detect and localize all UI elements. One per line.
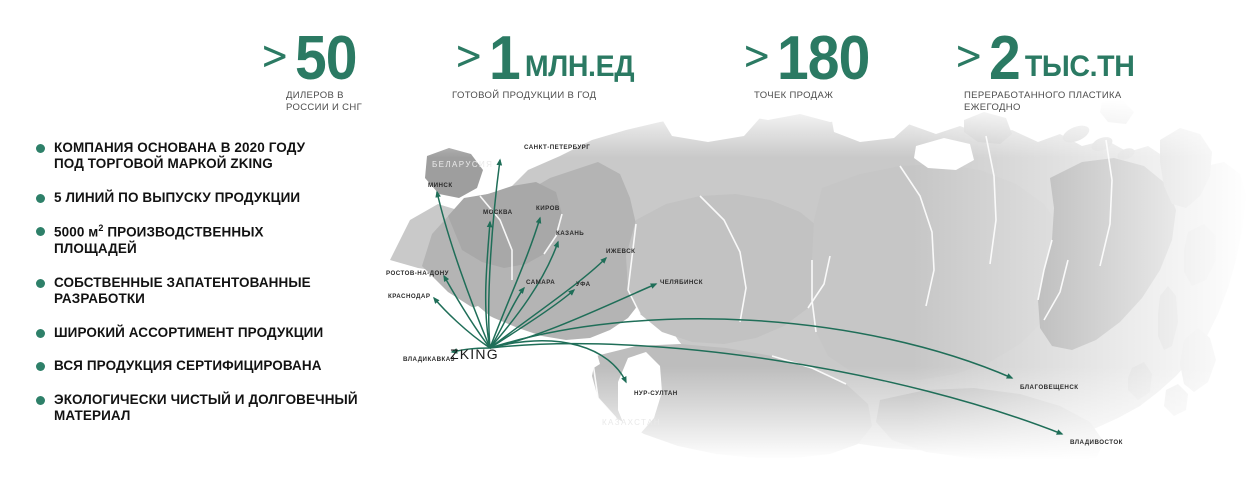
stat-units-unit: МЛН.ЕД <box>525 52 634 82</box>
city-label: САНКТ-ПЕТЕРБУРГ <box>524 144 590 151</box>
stat-dealers-number: 50 <box>295 32 357 85</box>
feature-item: ШИРОКИЙ АССОРТИМЕНТ ПРОДУКЦИИ <box>34 325 384 341</box>
city-label: УФА <box>576 281 591 288</box>
city-label: РОСТОВ-НА-ДОНУ <box>386 270 449 277</box>
feature-item-label: ЭКОЛОГИЧЕСКИ ЧИСТЫЙ И ДОЛГОВЕЧНЫЙ МАТЕРИ… <box>54 392 384 425</box>
feature-item-label: КОМПАНИЯ ОСНОВАНА В 2020 ГОДУ ПОД ТОРГОВ… <box>54 140 384 173</box>
stat-plastic-caption: ПЕРЕРАБОТАННОГО ПЛАСТИКА ЕЖЕГОДНО <box>964 90 1137 114</box>
superscript: 2 <box>98 223 103 233</box>
feature-item-label: 5000 м2 ПРОИЗВОДСТВЕННЫХ ПЛОЩАДЕЙ <box>54 223 384 257</box>
bullet-dot-icon <box>36 362 45 371</box>
stat-units: > 1 МЛН.ЕД ГОТОВОЙ ПРОДУКЦИИ В ГОД <box>452 32 637 102</box>
feature-item-label: ШИРОКИЙ АССОРТИМЕНТ ПРОДУКЦИИ <box>54 325 384 341</box>
feature-item: СОБСТВЕННЫЕ ЗАПАТЕНТОВАННЫЕ РАЗРАБОТКИ <box>34 275 384 308</box>
chevron-icon: > <box>455 36 483 76</box>
country-label: БЕЛАРУСИЯ <box>432 160 493 169</box>
feature-item: КОМПАНИЯ ОСНОВАНА В 2020 ГОДУ ПОД ТОРГОВ… <box>34 140 384 173</box>
bullet-dot-icon <box>36 396 45 405</box>
feature-item: 5000 м2 ПРОИЗВОДСТВЕННЫХ ПЛОЩАДЕЙ <box>34 223 384 257</box>
bullet-dot-icon <box>36 194 45 203</box>
chevron-icon: > <box>955 36 983 76</box>
city-label: ЧЕЛЯБИНСК <box>660 279 703 286</box>
city-label: МИНСК <box>428 182 453 189</box>
feature-item: ЭКОЛОГИЧЕСКИ ЧИСТЫЙ И ДОЛГОВЕЧНЫЙ МАТЕРИ… <box>34 392 384 425</box>
chevron-icon: > <box>261 36 289 76</box>
bullet-dot-icon <box>36 329 45 338</box>
feature-item: ВСЯ ПРОДУКЦИЯ СЕРТИФИЦИРОВАНА <box>34 358 384 374</box>
stat-plastic-number: 2 <box>989 32 1020 85</box>
stat-dealers-caption: ДИЛЕРОВ В РОССИИ И СНГ <box>286 90 362 114</box>
country-label: КАЗАХСТАН <box>602 418 661 427</box>
city-label: НУР-СУЛТАН <box>634 390 678 397</box>
stat-points-number: 180 <box>777 32 869 85</box>
hub-label-zking: ZKING <box>450 346 499 362</box>
feature-item-label: 5 ЛИНИЙ ПО ВЫПУСКУ ПРОДУКЦИИ <box>54 190 384 206</box>
bullet-dot-icon <box>36 144 45 153</box>
stat-units-number: 1 <box>489 32 520 85</box>
feature-item: 5 ЛИНИЙ ПО ВЫПУСКУ ПРОДУКЦИИ <box>34 190 384 206</box>
city-label: МОСКВА <box>483 209 513 216</box>
bullet-dot-icon <box>36 227 45 236</box>
feature-list: КОМПАНИЯ ОСНОВАНА В 2020 ГОДУ ПОД ТОРГОВ… <box>34 140 384 442</box>
chevron-icon: > <box>743 36 771 76</box>
stat-plastic-unit: ТЫС.ТН <box>1025 52 1135 82</box>
stat-points: > 180 ТОЧЕК ПРОДАЖ <box>740 32 877 102</box>
city-label: ВЛАДИКАВКАЗ <box>403 356 455 363</box>
city-label: КИРОВ <box>536 205 560 212</box>
stat-dealers: > 50 ДИЛЕРОВ В РОССИИ И СНГ <box>258 32 362 115</box>
feature-item-label: СОБСТВЕННЫЕ ЗАПАТЕНТОВАННЫЕ РАЗРАБОТКИ <box>54 275 384 308</box>
stat-units-caption: ГОТОВОЙ ПРОДУКЦИИ В ГОД <box>452 90 637 102</box>
stat-plastic: > 2 ТЫС.ТН ПЕРЕРАБОТАННОГО ПЛАСТИКА ЕЖЕГ… <box>952 32 1137 115</box>
city-label: ВЛАДИВОСТОК <box>1070 439 1123 446</box>
city-label: КРАСНОДАР <box>388 293 430 300</box>
city-label: КАЗАНЬ <box>556 230 584 237</box>
infographic-canvas: САНКТ-ПЕТЕРБУРГМИНСКМОСКВАКИРОВКАЗАНЬИЖЕ… <box>0 0 1250 500</box>
bullet-dot-icon <box>36 279 45 288</box>
city-label: ИЖЕВСК <box>606 248 635 255</box>
stats-row: > 50 ДИЛЕРОВ В РОССИИ И СНГ > 1 МЛН.ЕД Г… <box>0 14 1250 119</box>
city-label: БЛАГОВЕЩЕНСК <box>1020 384 1078 391</box>
feature-item-label: ВСЯ ПРОДУКЦИЯ СЕРТИФИЦИРОВАНА <box>54 358 384 374</box>
city-label: САМАРА <box>526 279 555 286</box>
